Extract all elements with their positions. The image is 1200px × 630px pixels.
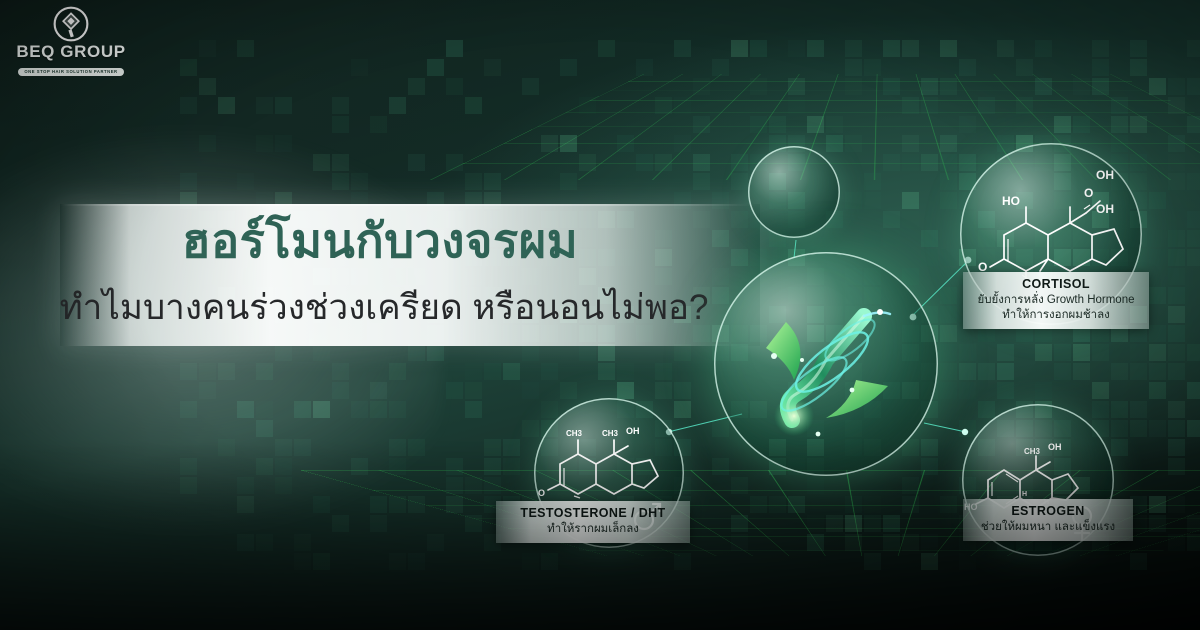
vignette-overlay [0,0,1200,630]
poster-canvas: BEQ GROUP ONE STOP HAIR SOLUTION PARTNER… [0,0,1200,630]
